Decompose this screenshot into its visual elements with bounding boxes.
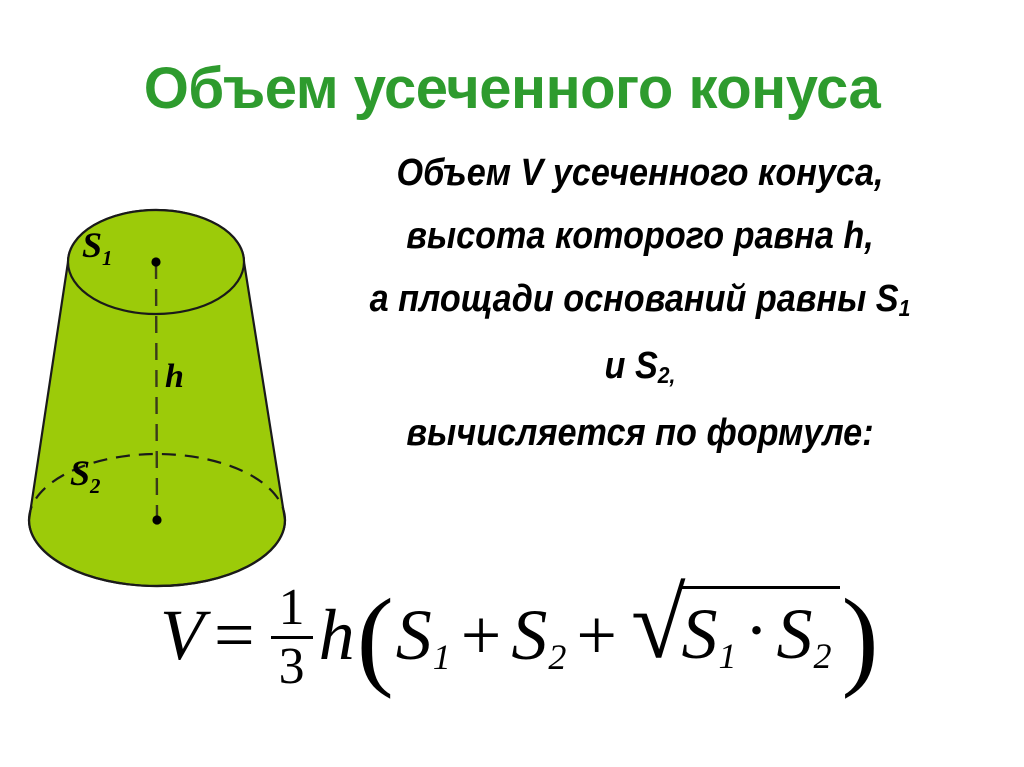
description-line-3: а площади оснований равны S1 [305,268,975,335]
description-line-4: и S2, [305,335,975,402]
formula-term-s2-text: S [511,595,547,675]
truncated-cone-drawing [10,185,310,605]
formula-close-paren: ) [842,599,879,679]
figure-label-s1-text: S [82,225,102,265]
formula-fraction-denominator: 3 [273,639,311,693]
figure-label-s2: S2 [70,455,100,497]
figure-label-s2-sub: 2 [90,474,100,498]
formula-root-s2-text: S [777,594,813,674]
description-text: Объем V усеченного конуса, высота которо… [305,142,975,465]
formula-plus-2: + [576,594,617,677]
formula-root-s1-text: S [682,594,718,674]
formula-term-s1-sub: 1 [433,637,451,677]
formula-root-s2: S2 [777,594,832,674]
volume-formula: V = 1 3 h ( S1 + S2 + √ S1·S2 ) [160,545,1020,725]
formula-height-h: h [319,594,355,677]
description-line-2: высота которого равна h, [305,205,975,268]
formula-open-paren: ( [357,599,394,679]
formula-term-s2-sub: 2 [548,637,566,677]
formula-root-s1: S1 [682,594,737,674]
bottom-center-dot [152,515,161,524]
description-line-3-sub: 1 [899,295,911,321]
truncated-cone-figure: S1 S2 h [10,185,310,605]
radical-sign-icon: √ [631,586,686,676]
figure-label-s1: S1 [82,227,112,269]
formula-term-s1-text: S [396,595,432,675]
formula-fraction-numerator: 1 [273,582,311,636]
description-line-4-text: и S [605,345,658,387]
formula-term-s2: S2 [511,594,566,677]
formula-root-s1-sub: 1 [719,636,737,676]
formula-square-root: √ S1·S2 [631,592,840,682]
formula-radicand: S1·S2 [680,586,840,676]
formula-equals: = [214,594,255,677]
formula-multiplication-dot: · [745,590,769,670]
formula-fraction-one-third: 1 3 [271,582,313,693]
figure-label-h: h [165,360,184,394]
description-line-3-text: а площади оснований равны S [370,278,899,320]
description-line-1: Объем V усеченного конуса, [305,142,975,205]
formula-plus-1: + [461,594,502,677]
slide-root: Объем усеченного конуса S1 S2 h Объем V … [0,0,1024,767]
description-line-5: вычисляется по формуле: [305,402,975,465]
formula-lhs-v: V [160,594,204,677]
figure-label-s2-text: S [70,453,90,493]
formula-term-s1: S1 [396,594,451,677]
figure-label-s1-sub: 1 [102,246,112,270]
description-line-4-sub: 2, [658,362,676,388]
top-center-dot [151,257,160,266]
formula-root-s2-sub: 2 [814,636,832,676]
page-title: Объем усеченного конуса [0,58,1024,120]
